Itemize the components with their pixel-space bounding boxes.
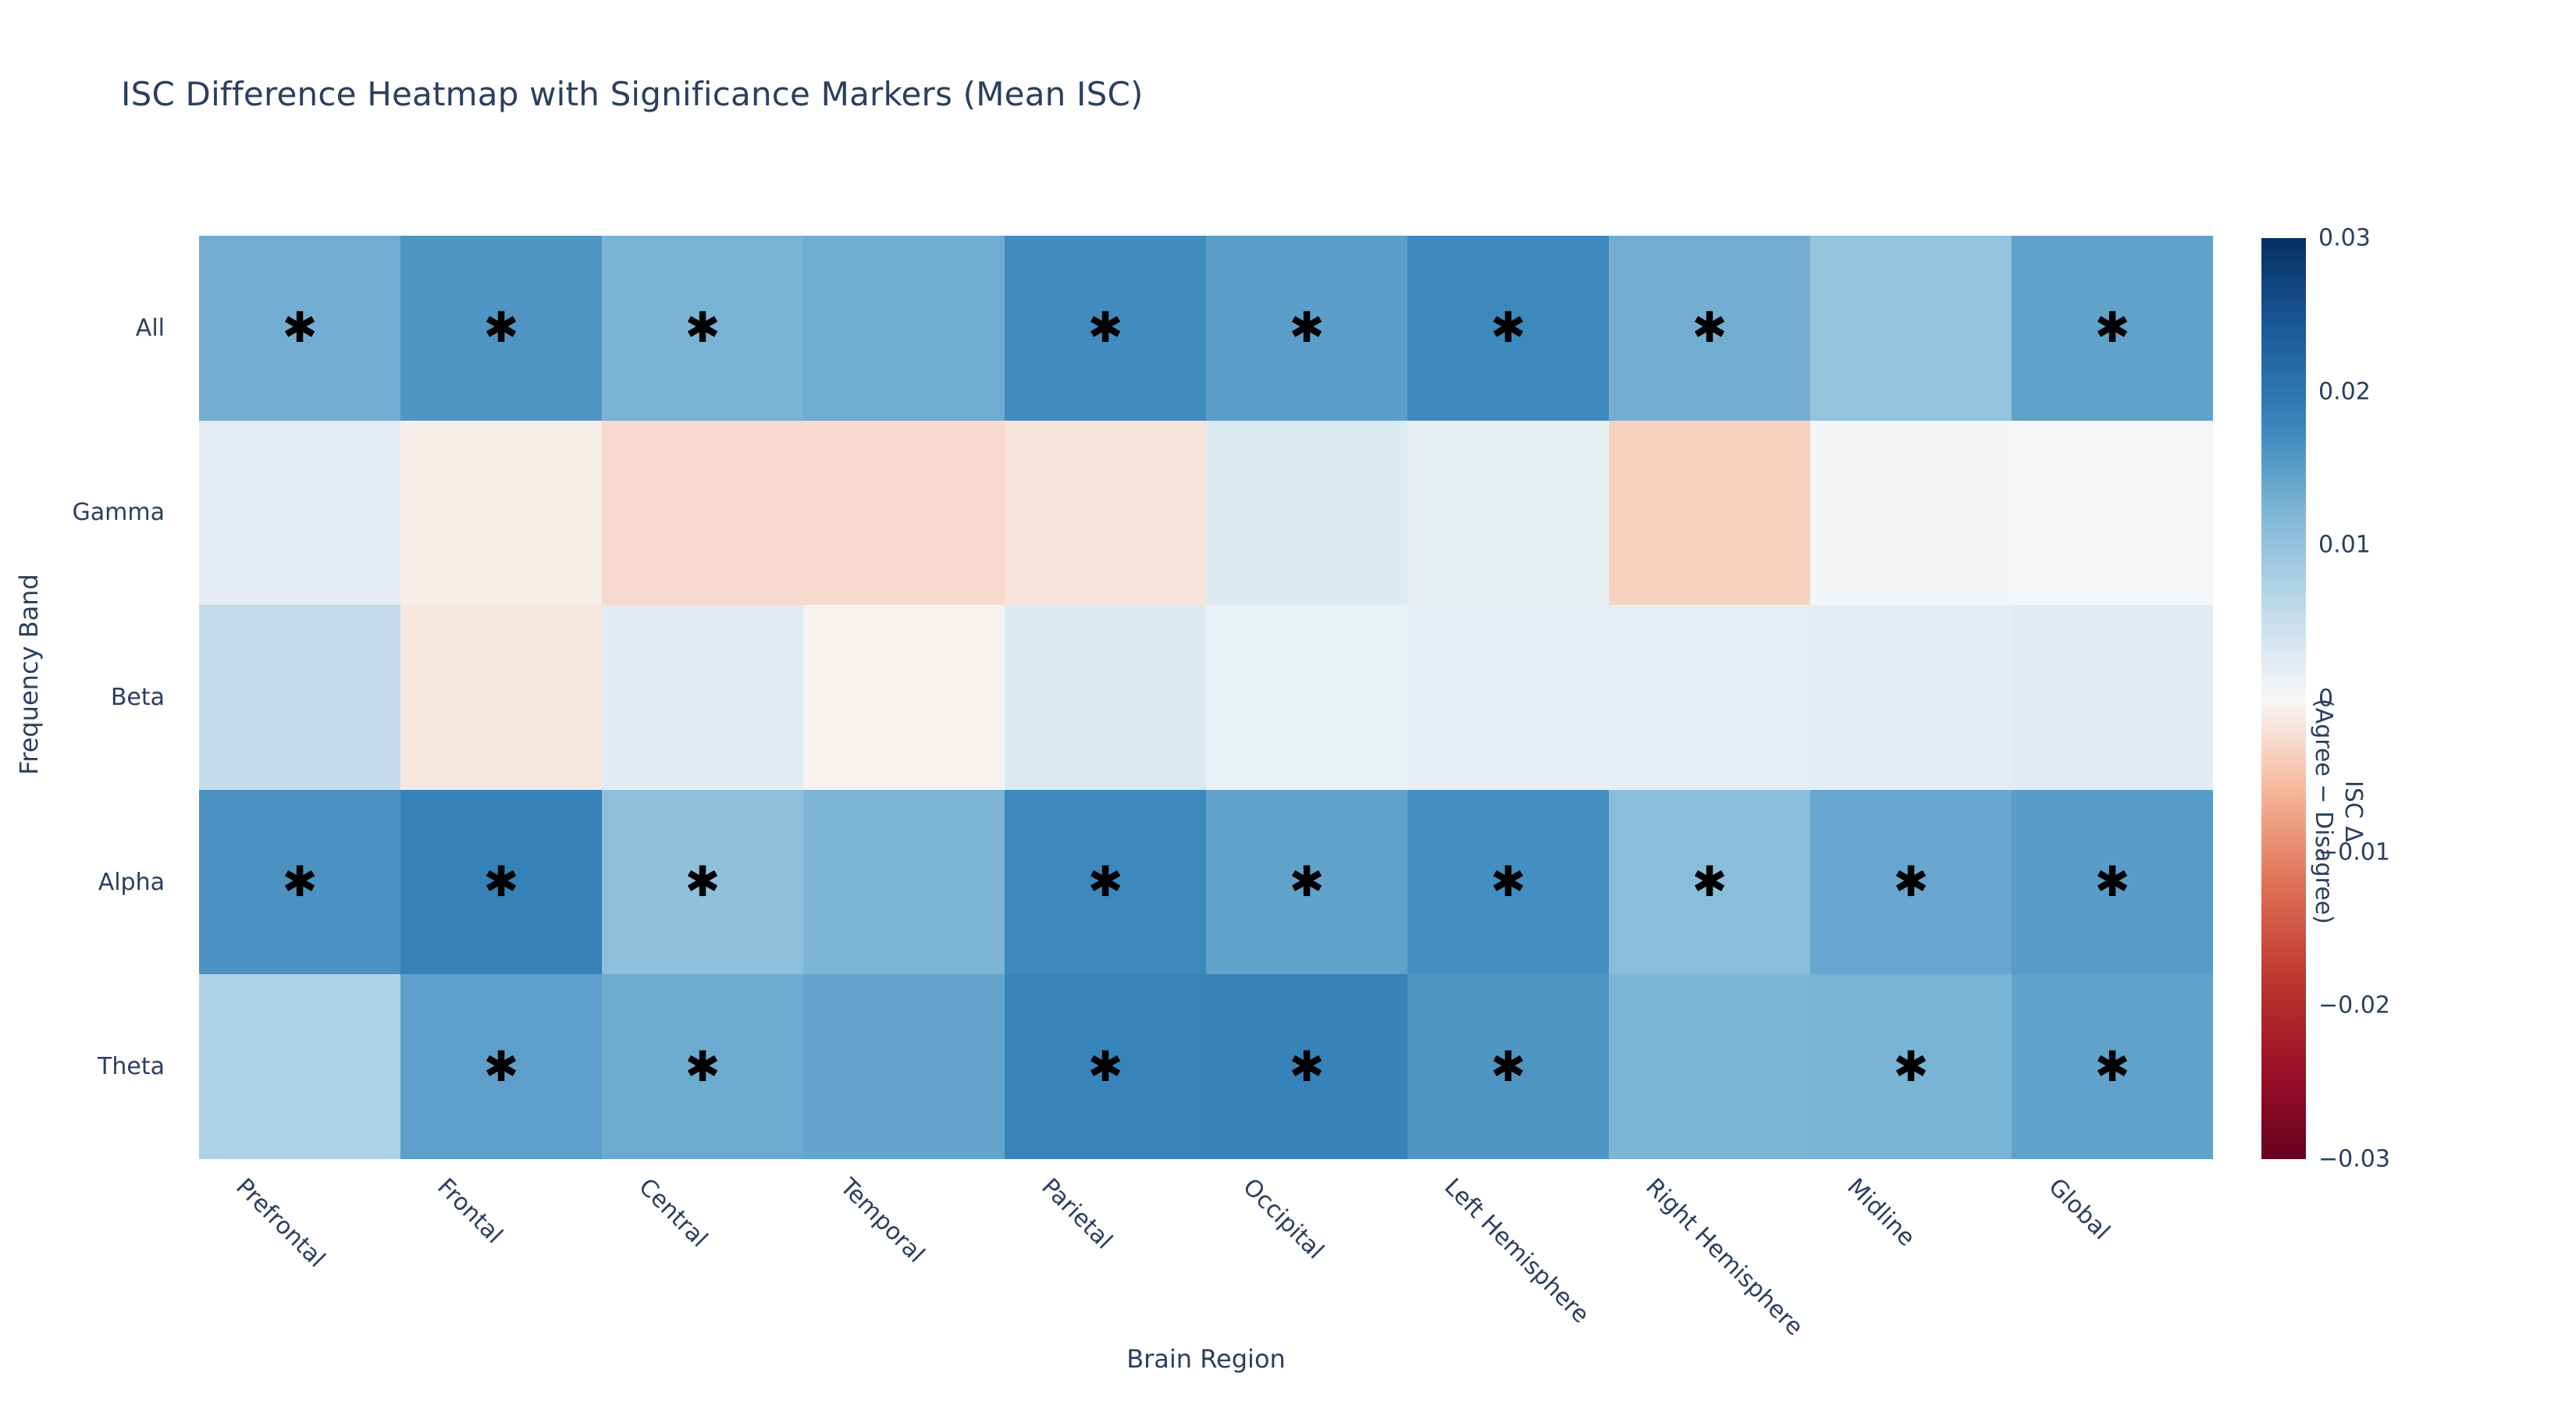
significance-marker: ✱ [2094, 1046, 2129, 1088]
x-axis-tick-label: Right Hemisphere [1640, 1173, 1808, 1341]
significance-marker: ✱ [685, 1046, 720, 1088]
significance-marker: ✱ [1692, 307, 1727, 349]
y-axis-tick-gamma: Gamma [0, 421, 182, 606]
heatmap-cell[interactable] [803, 605, 1005, 790]
significance-marker: ✱ [1490, 1046, 1525, 1088]
heatmap-cell[interactable] [1810, 421, 2012, 606]
heatmap-cell[interactable] [1206, 421, 1407, 606]
heatmap-cell[interactable]: ✱ [1206, 236, 1407, 421]
x-axis-tick-label: Occipital [1237, 1173, 1329, 1264]
colorbar-tick-label: 0.03 [2318, 225, 2371, 252]
heatmap-cell[interactable] [803, 790, 1005, 975]
significance-marker: ✱ [685, 307, 720, 349]
x-axis-tick-label: Central [633, 1173, 713, 1253]
colorbar-gradient [2261, 238, 2306, 1159]
significance-marker: ✱ [1289, 1046, 1324, 1088]
significance-marker: ✱ [282, 861, 317, 903]
colorbar-tick-label: 0.02 [2318, 378, 2371, 405]
x-axis-tick-label: Left Hemisphere [1439, 1173, 1594, 1329]
heatmap-cell[interactable] [1609, 605, 1810, 790]
heatmap-cell[interactable]: ✱ [2012, 974, 2213, 1159]
heatmap-cell[interactable]: ✱ [1407, 236, 1609, 421]
x-axis-tick-label: Global [2043, 1173, 2115, 1245]
heatmap-cell[interactable]: ✱ [1005, 790, 1206, 975]
heatmap-plot-area: ✱✱✱✱✱✱✱✱✱✱✱✱✱✱✱✱✱✱✱✱✱✱✱✱ [199, 236, 2213, 1159]
significance-marker: ✱ [1893, 861, 1928, 903]
heatmap-cell[interactable] [1407, 421, 1609, 606]
x-axis-tick-label: Midline [1841, 1173, 1920, 1252]
heatmap-cell[interactable] [1206, 605, 1407, 790]
heatmap-cell[interactable]: ✱ [1005, 236, 1206, 421]
y-axis-tick-theta: Theta [0, 974, 182, 1159]
heatmap-cell[interactable]: ✱ [400, 236, 602, 421]
heatmap-cell[interactable] [602, 421, 803, 606]
heatmap-cell[interactable] [1609, 421, 1810, 606]
heatmap-cell[interactable]: ✱ [602, 790, 803, 975]
heatmap-cell[interactable]: ✱ [400, 790, 602, 975]
heatmap-cell[interactable] [400, 605, 602, 790]
heatmap-cell[interactable]: ✱ [199, 790, 400, 975]
heatmap-grid: ✱✱✱✱✱✱✱✱✱✱✱✱✱✱✱✱✱✱✱✱✱✱✱✱ [199, 236, 2213, 1159]
heatmap-cell[interactable]: ✱ [2012, 790, 2213, 975]
significance-marker: ✱ [282, 307, 317, 349]
significance-marker: ✱ [483, 307, 518, 349]
heatmap-cell[interactable] [803, 421, 1005, 606]
x-axis-tick-label: Prefrontal [230, 1173, 330, 1273]
y-axis-tick-beta: Beta [0, 605, 182, 790]
significance-marker: ✱ [1289, 861, 1324, 903]
colorbar-title-line-1: ISC Δ [2339, 699, 2368, 924]
heatmap-cell[interactable] [199, 974, 400, 1159]
heatmap-cell[interactable] [199, 605, 400, 790]
heatmap-cell[interactable]: ✱ [1206, 790, 1407, 975]
heatmap-cell[interactable] [199, 421, 400, 606]
colorbar-title: ISC Δ (Agree − Disagree) [2309, 699, 2368, 924]
heatmap-cell[interactable]: ✱ [199, 236, 400, 421]
heatmap-cell[interactable] [2012, 421, 2213, 606]
significance-marker: ✱ [1087, 307, 1123, 349]
heatmap-cell[interactable] [400, 421, 602, 606]
significance-marker: ✱ [1490, 861, 1525, 903]
heatmap-cell[interactable] [1609, 974, 1810, 1159]
heatmap-cell[interactable]: ✱ [2012, 236, 2213, 421]
heatmap-cell[interactable] [803, 974, 1005, 1159]
significance-marker: ✱ [2094, 307, 2129, 349]
significance-marker: ✱ [483, 861, 518, 903]
x-axis-tick-label: Temporal [834, 1173, 930, 1268]
heatmap-cell[interactable]: ✱ [400, 974, 602, 1159]
colorbar-tick-label: 0.01 [2318, 532, 2371, 559]
heatmap-cell[interactable]: ✱ [602, 236, 803, 421]
heatmap-cell[interactable]: ✱ [1407, 790, 1609, 975]
significance-marker: ✱ [1490, 307, 1525, 349]
significance-marker: ✱ [1289, 307, 1324, 349]
heatmap-cell[interactable] [1005, 605, 1206, 790]
colorbar-title-line-2: (Agree − Disagree) [2309, 699, 2339, 924]
significance-marker: ✱ [685, 861, 720, 903]
y-axis-tick-alpha: Alpha [0, 790, 182, 975]
heatmap-cell[interactable] [602, 605, 803, 790]
heatmap-cell[interactable] [2012, 605, 2213, 790]
y-axis-tick-all: All [0, 236, 182, 421]
heatmap-cell[interactable] [1005, 421, 1206, 606]
heatmap-cell[interactable]: ✱ [1005, 974, 1206, 1159]
heatmap-cell[interactable]: ✱ [1810, 974, 2012, 1159]
significance-marker: ✱ [1087, 1046, 1123, 1088]
heatmap-cell[interactable] [1407, 605, 1609, 790]
heatmap-cell[interactable]: ✱ [1609, 790, 1810, 975]
x-axis-tick-label: Frontal [432, 1173, 507, 1249]
x-axis-tick-label: Parietal [1036, 1173, 1117, 1254]
significance-marker: ✱ [1087, 861, 1123, 903]
heatmap-cell[interactable] [1810, 236, 2012, 421]
x-axis-title: Brain Region [199, 1344, 2213, 1374]
significance-marker: ✱ [1893, 1046, 1928, 1088]
heatmap-cell[interactable]: ✱ [1206, 974, 1407, 1159]
heatmap-cell[interactable]: ✱ [1407, 974, 1609, 1159]
colorbar-tick-label: −0.03 [2318, 1146, 2390, 1173]
significance-marker: ✱ [2094, 861, 2129, 903]
heatmap-cell[interactable] [803, 236, 1005, 421]
heatmap-cell[interactable] [1810, 605, 2012, 790]
significance-marker: ✱ [483, 1046, 518, 1088]
colorbar: 0.030.020.010−0.01−0.02−0.03 ISC Δ (Agre… [2261, 238, 2519, 1159]
y-axis-tick-labels: AllGammaBetaAlphaTheta [0, 236, 182, 1159]
significance-marker: ✱ [1692, 861, 1727, 903]
heatmap-cell[interactable]: ✱ [1810, 790, 2012, 975]
chart-title: ISC Difference Heatmap with Significance… [121, 75, 1144, 113]
heatmap-cell[interactable]: ✱ [1609, 236, 1810, 421]
heatmap-cell[interactable]: ✱ [602, 974, 803, 1159]
colorbar-tick-label: −0.02 [2318, 992, 2390, 1019]
